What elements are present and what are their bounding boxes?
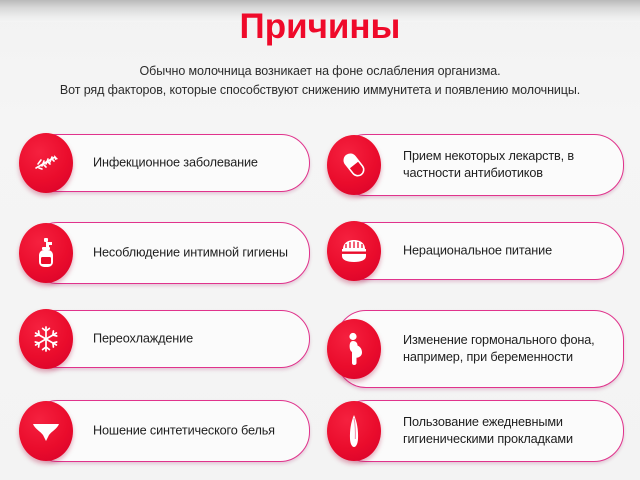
soap-dispenser-icon [19,223,73,283]
causes-column-left: Инфекционное заболевание Несоблюдение [28,128,324,480]
cause-label: Ношение синтетического белья [93,423,295,440]
subtitle-line-2: Вот ряд факторов, которые способствуют с… [0,81,640,100]
cause-label: Переохлаждение [93,331,295,348]
bacteria-icon [19,133,73,193]
cause-label: Изменение гормонального фона, например, … [403,332,613,366]
cause-label: Пользование ежедневными гигиеническими п… [403,414,613,448]
cause-card-daily-pads[interactable]: Пользование ежедневными гигиеническими п… [336,400,624,462]
cause-card-poor-nutrition[interactable]: Нерациональное питание [336,222,624,280]
cake-food-icon [327,221,381,281]
cause-label: Инфекционное заболевание [93,155,295,172]
cause-card-medication[interactable]: Прием некоторых лекарств, в частности ан… [336,134,624,196]
page-subtitle: Обычно молочница возникает на фоне ослаб… [0,62,640,100]
subtitle-line-1: Обычно молочница возникает на фоне ослаб… [0,62,640,81]
causes-column-right: Прием некоторых лекарств, в частности ан… [336,128,632,480]
cause-label: Несоблюдение интимной гигиены [93,245,295,262]
causes-grid: Инфекционное заболевание Несоблюдение [0,128,640,480]
cause-label: Прием некоторых лекарств, в частности ан… [403,148,613,182]
infographic-page: Причины Обычно молочница возникает на фо… [0,0,640,480]
pregnant-woman-icon [327,319,381,379]
page-title: Причины [0,6,640,48]
cause-card-hormonal[interactable]: Изменение гормонального фона, например, … [336,310,624,388]
cause-card-synthetic-underwear[interactable]: Ношение синтетического белья [28,400,310,462]
cause-card-infection[interactable]: Инфекционное заболевание [28,134,310,192]
snowflake-icon [19,309,73,369]
pill-capsule-icon [327,135,381,195]
cause-card-hygiene[interactable]: Несоблюдение интимной гигиены [28,222,310,284]
sanitary-pad-icon [327,401,381,461]
cause-card-cold[interactable]: Переохлаждение [28,310,310,368]
underwear-icon [19,401,73,461]
cause-label: Нерациональное питание [403,243,613,260]
